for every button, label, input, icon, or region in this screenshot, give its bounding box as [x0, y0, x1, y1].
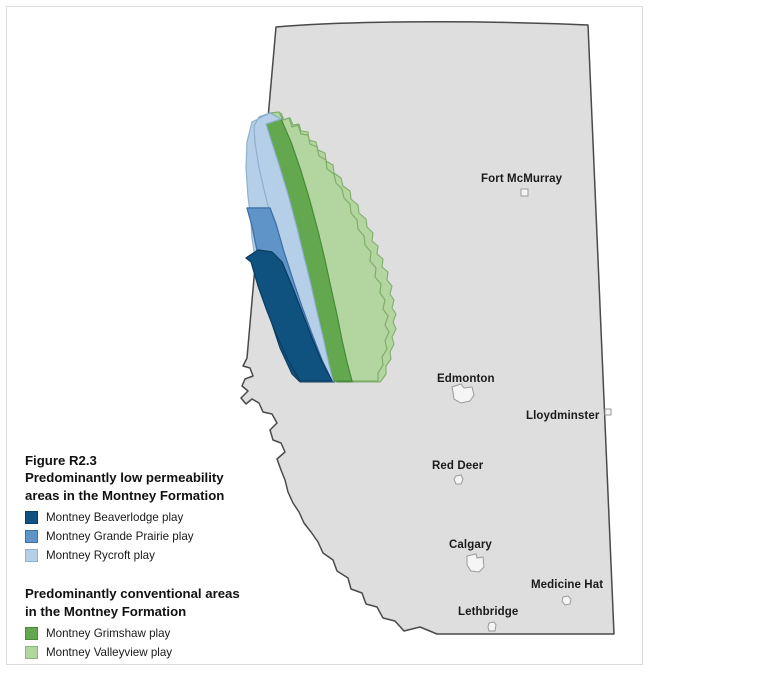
legend-label-beaverlodge: Montney Beaverlodge play [46, 512, 183, 524]
figure-legend: Figure R2.3 Predominantly low permeabili… [25, 452, 305, 660]
city-marker-fort-mcmurray [521, 189, 528, 196]
legend-item-valleyview[interactable]: Montney Valleyview play [25, 645, 305, 660]
legend-item-grande-prairie[interactable]: Montney Grande Prairie play [25, 529, 305, 544]
city-label-calgary: Calgary [449, 539, 492, 551]
legend-heading-conventional: Predominantly conventional areas in the … [25, 585, 305, 620]
city-label-edmonton: Edmonton [437, 373, 495, 385]
figure-heading-conventional-line-2: in the Montney Formation [25, 603, 305, 620]
map-stage: Fort McMurray Edmonton Lloydminster Red … [0, 0, 768, 674]
legend-swatch-grande-prairie [25, 530, 38, 543]
city-marker-red-deer [454, 475, 463, 484]
city-label-lethbridge: Lethbridge [458, 606, 518, 618]
legend-label-grande-prairie: Montney Grande Prairie play [46, 531, 194, 543]
legend-label-grimshaw: Montney Grimshaw play [46, 628, 170, 640]
legend-label-rycroft: Montney Rycroft play [46, 550, 155, 562]
figure-heading-conventional-line-1: Predominantly conventional areas [25, 585, 305, 602]
legend-item-grimshaw[interactable]: Montney Grimshaw play [25, 626, 305, 641]
city-marker-edmonton [452, 384, 474, 403]
city-label-lloydminster: Lloydminster [526, 410, 599, 422]
legend-swatch-rycroft [25, 549, 38, 562]
legend-swatch-beaverlodge [25, 511, 38, 524]
legend-heading-low-permeability: Figure R2.3 Predominantly low permeabili… [25, 452, 305, 504]
legend-swatch-grimshaw [25, 627, 38, 640]
figure-number: Figure R2.3 [25, 452, 305, 469]
city-label-medicine-hat: Medicine Hat [531, 579, 603, 591]
legend-label-valleyview: Montney Valleyview play [46, 647, 172, 659]
city-marker-lethbridge [488, 622, 496, 631]
city-label-red-deer: Red Deer [432, 460, 483, 472]
city-label-fort-mcmurray: Fort McMurray [481, 173, 562, 185]
figure-heading-line-1: Predominantly low permeability [25, 469, 305, 486]
figure-heading-line-2: areas in the Montney Formation [25, 487, 305, 504]
legend-item-rycroft[interactable]: Montney Rycroft play [25, 548, 305, 563]
legend-swatch-valleyview [25, 646, 38, 659]
city-marker-lloydminster [605, 409, 611, 415]
legend-item-beaverlodge[interactable]: Montney Beaverlodge play [25, 510, 305, 525]
